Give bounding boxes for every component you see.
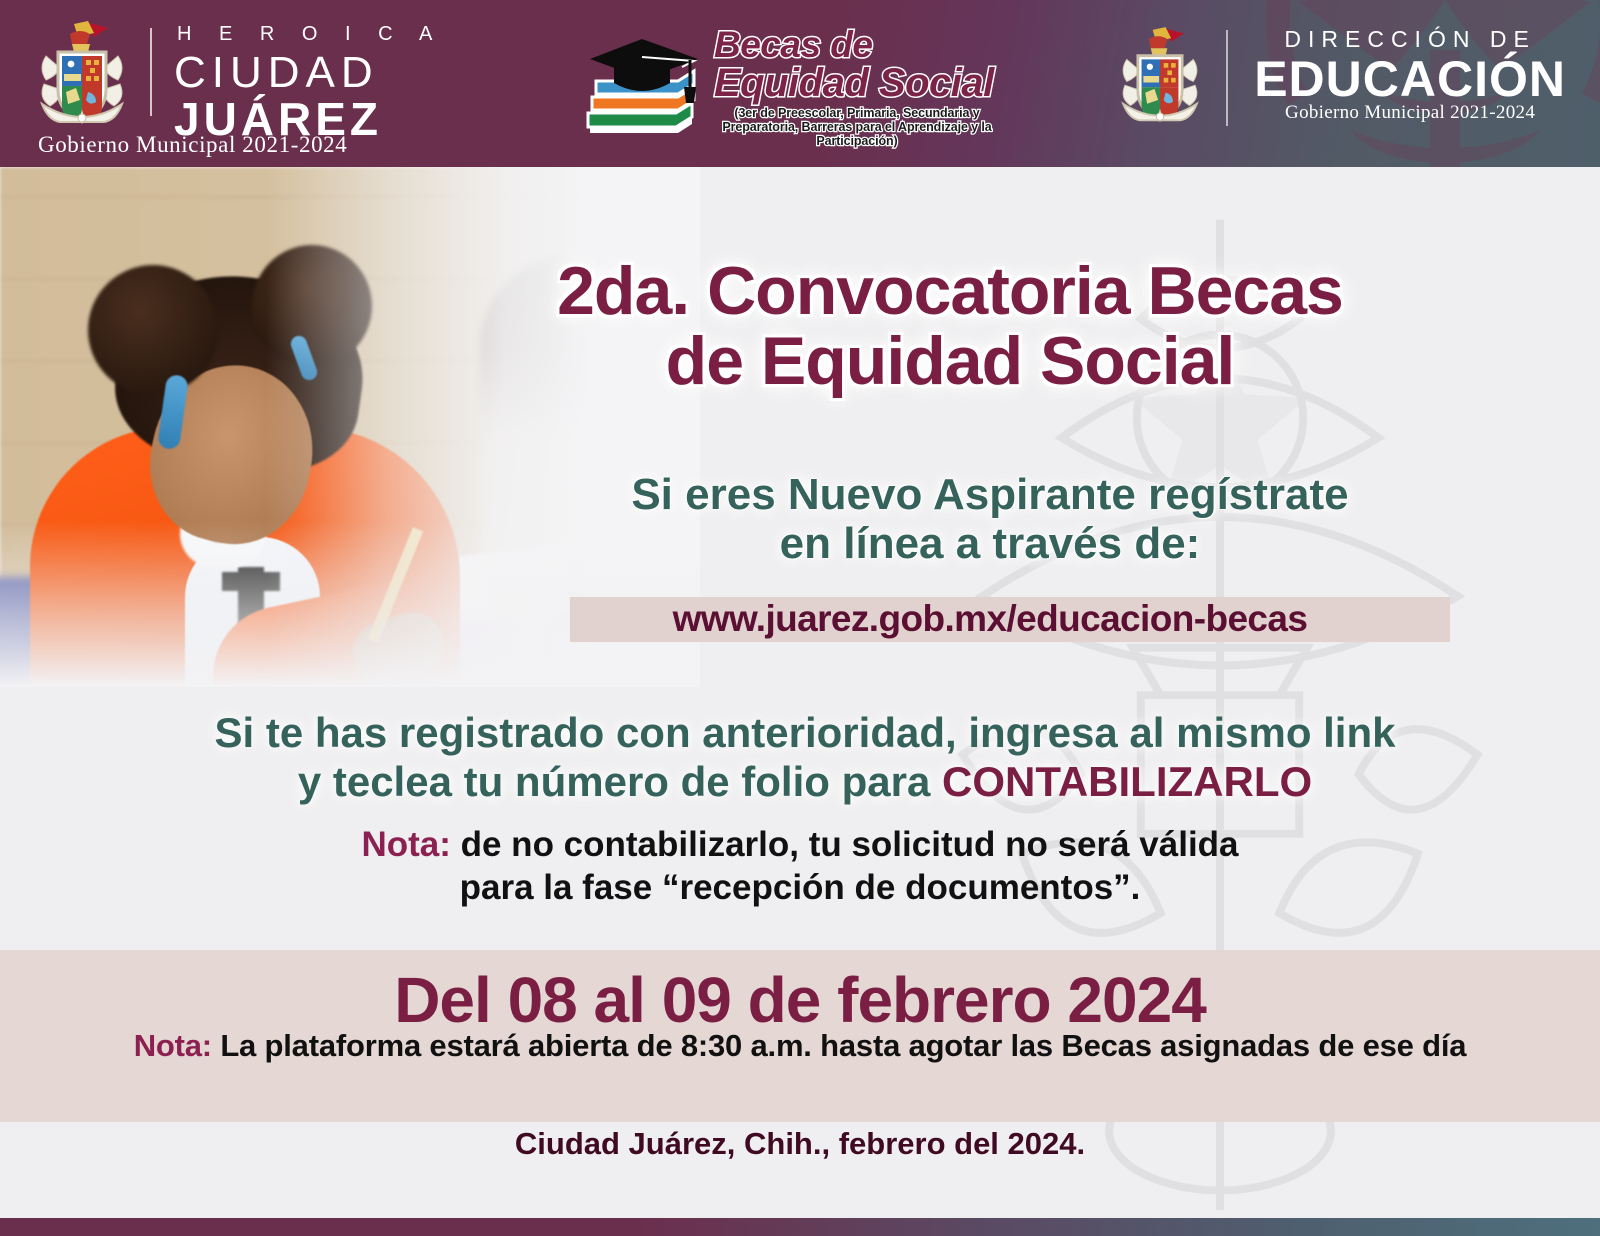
- gobierno-municipal-label: Gobierno Municipal 2021-2024: [38, 132, 347, 158]
- becas-subtitle: (3er de Preescolar, Primaria, Secundaria…: [714, 106, 1000, 148]
- becas-wordmark: Becas de Equidad Social (3er de Preescol…: [714, 26, 1000, 148]
- paragraph-line-1: Si te has registrado con anterioridad, i…: [60, 708, 1550, 757]
- coat-of-arms-icon: [1112, 22, 1208, 130]
- graduation-cap-books-icon: [580, 27, 710, 147]
- date-range: Del 08 al 09 de febrero 2024: [0, 963, 1600, 1037]
- platform-note-label: Nota:: [134, 1028, 212, 1063]
- title-line-1: 2da. Convocatoria Becas: [360, 256, 1540, 326]
- coat-of-arms-icon: [30, 18, 134, 130]
- becas-line2: Equidad Social: [714, 63, 1000, 103]
- subtitle-line-1: Si eres Nuevo Aspirante regístrate: [430, 470, 1550, 519]
- direccion-de-label: DIRECCIÓN DE: [1254, 26, 1566, 53]
- note-line-2: para la fase “recepción de documentos”.: [200, 867, 1400, 910]
- direccion-educacion-wordmark: DIRECCIÓN DE EDUCACIÓN Gobierno Municipa…: [1254, 22, 1566, 124]
- note-line-1-text: de no contabilizarlo, tu solicitud no se…: [451, 825, 1239, 864]
- header-bar: H E R O I C A CIUDAD JUÁREZ Gobierno Mun…: [0, 0, 1600, 167]
- validity-note: Nota: de no contabilizarlo, tu solicitud…: [200, 824, 1400, 909]
- platform-note-text: La plataforma estará abierta de 8:30 a.m…: [212, 1028, 1466, 1063]
- educacion-label: EDUCACIÓN: [1254, 54, 1566, 105]
- subtitle-line-2: en línea a través de:: [430, 519, 1550, 568]
- note-line-1: Nota: de no contabilizarlo, tu solicitud…: [200, 824, 1400, 867]
- direccion-educacion-logo-group: DIRECCIÓN DE EDUCACIÓN Gobierno Municipa…: [1112, 22, 1566, 152]
- gobierno-municipal-label: Gobierno Municipal 2021-2024: [1254, 102, 1566, 124]
- left-logo-group: H E R O I C A CIUDAD JUÁREZ: [30, 18, 443, 148]
- note-label: Nota:: [361, 825, 450, 864]
- paragraph-line-2: y teclea tu número de folio para CONTABI…: [60, 757, 1550, 806]
- paragraph-line-2-prefix: y teclea tu número de folio para: [298, 758, 942, 805]
- logo-divider: [150, 28, 152, 116]
- registration-subtitle: Si eres Nuevo Aspirante regístrate en lí…: [430, 470, 1550, 569]
- ciudad-label: CIUDAD: [174, 51, 443, 96]
- becas-logo-group: Becas de Equidad Social (3er de Preescol…: [580, 22, 1000, 152]
- platform-hours-note: Nota: La plataforma estará abierta de 8:…: [0, 1028, 1600, 1064]
- books-wrap: [580, 27, 710, 147]
- ciudad-juarez-wordmark: H E R O I C A CIUDAD JUÁREZ: [174, 18, 443, 142]
- bottom-bar: [0, 1218, 1600, 1236]
- contabilizarlo-emphasis: CONTABILIZARLO: [942, 758, 1312, 805]
- returning-applicant-paragraph: Si te has registrado con anterioridad, i…: [60, 708, 1550, 806]
- registration-url[interactable]: www.juarez.gob.mx/educacion-becas: [430, 598, 1550, 640]
- logo-divider: [1226, 30, 1228, 126]
- poster: H E R O I C A CIUDAD JUÁREZ Gobierno Mun…: [0, 0, 1600, 1236]
- becas-line1: Becas de: [714, 26, 1000, 63]
- place-and-date: Ciudad Juárez, Chih., febrero del 2024.: [0, 1126, 1600, 1162]
- heroica-label: H E R O I C A: [177, 24, 443, 44]
- page-title: 2da. Convocatoria Becas de Equidad Socia…: [360, 256, 1540, 396]
- title-line-2: de Equidad Social: [360, 326, 1540, 396]
